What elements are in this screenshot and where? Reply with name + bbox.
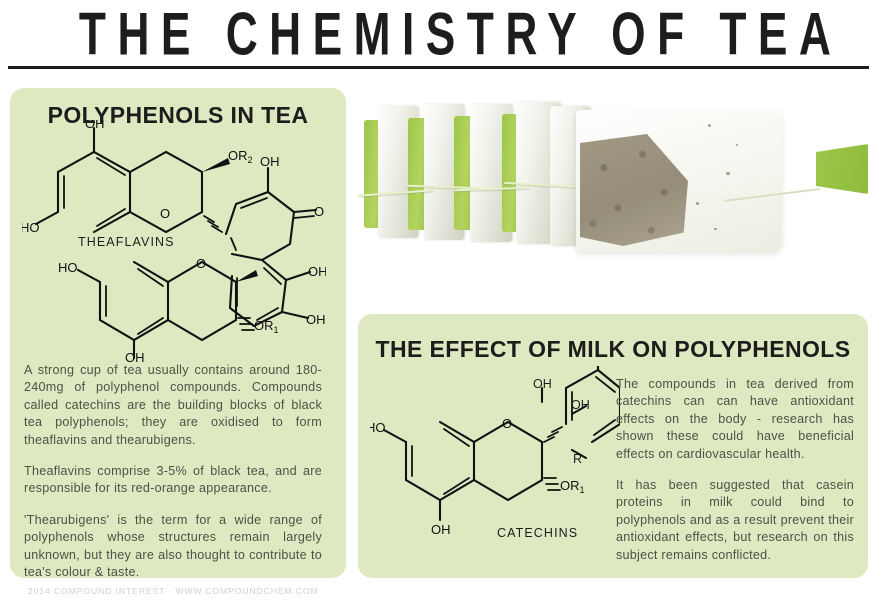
polyphenols-paragraph-2: Theaflavins comprise 3-5% of black tea, … xyxy=(24,463,322,498)
atom-oxygen-theaflavin-1: O xyxy=(160,206,170,221)
catechol-substituent-bonds xyxy=(520,384,600,474)
footer-credit: 2014 COMPOUND INTEREST · WWW.COMPOUNDCHE… xyxy=(28,586,319,596)
tea-speck xyxy=(736,144,738,146)
milk-paragraph-2: It has been suggested that casein protei… xyxy=(616,477,854,564)
structure-label-theaflavins: THEAFLAVINS xyxy=(78,235,175,249)
polyphenols-paragraph-3: 'Thearubigens' is the term for a wide ra… xyxy=(24,512,322,582)
title-divider xyxy=(8,66,869,69)
tea-speck xyxy=(708,124,711,127)
atom-oh-catechin-bottom: OH xyxy=(431,522,451,537)
tea-bag-opened xyxy=(576,110,782,252)
atom-or2-label: OR2 xyxy=(228,148,253,165)
tea-speck xyxy=(696,202,699,205)
stereo-hash-or1-catechin xyxy=(544,478,560,490)
tea-leaves-fill xyxy=(580,134,688,246)
atom-oh-benzo-1: OH xyxy=(308,264,326,279)
atom-ketone-oxygen: O xyxy=(314,204,324,219)
atom-ho-theaflavin-left: HO xyxy=(22,220,40,235)
structure-label-catechins: CATECHINS xyxy=(497,526,578,540)
milk-paragraph-1: The compounds in tea derived from catech… xyxy=(616,376,854,463)
atom-oxygen-theaflavin-2: O xyxy=(196,256,206,271)
milk-body-text: The compounds in tea derived from catech… xyxy=(616,376,854,564)
atom-oxygen-catechin: O xyxy=(502,416,512,431)
stereo-hash-or1-theaflavin xyxy=(238,318,254,330)
theaflavins-lower-chromane-diagram: O HO OH OR1 xyxy=(56,252,286,362)
tea-bag-tag xyxy=(816,144,868,194)
polyphenols-body-text: A strong cup of tea usually contains aro… xyxy=(24,362,322,581)
atom-oh-theaflavin-top: OH xyxy=(85,120,105,131)
tea-speck xyxy=(726,172,730,175)
atom-oh-benzo-2: OH xyxy=(306,312,326,327)
atom-ho-catechin-left: HO xyxy=(370,420,386,435)
atom-or1-catechin: OR1 xyxy=(560,478,585,495)
atom-oh-tropolone: OH xyxy=(260,154,280,169)
stereo-hash-theaflavin xyxy=(204,216,222,232)
tea-speck xyxy=(714,228,717,230)
atom-oh-lower-bottom: OH xyxy=(125,350,145,362)
polyphenols-paragraph-1: A strong cup of tea usually contains aro… xyxy=(24,362,322,449)
atom-ho-lower-left: HO xyxy=(58,260,78,275)
title-block: THE CHEMISTRY OF TEA xyxy=(0,0,877,72)
panel-heading-milk: THE EFFECT OF MILK ON POLYPHENOLS xyxy=(358,336,868,363)
atom-or1-theaflavin: OR1 xyxy=(254,318,279,335)
page-title: THE CHEMISTRY OF TEA xyxy=(79,2,798,67)
tea-bags-photo xyxy=(358,92,870,310)
